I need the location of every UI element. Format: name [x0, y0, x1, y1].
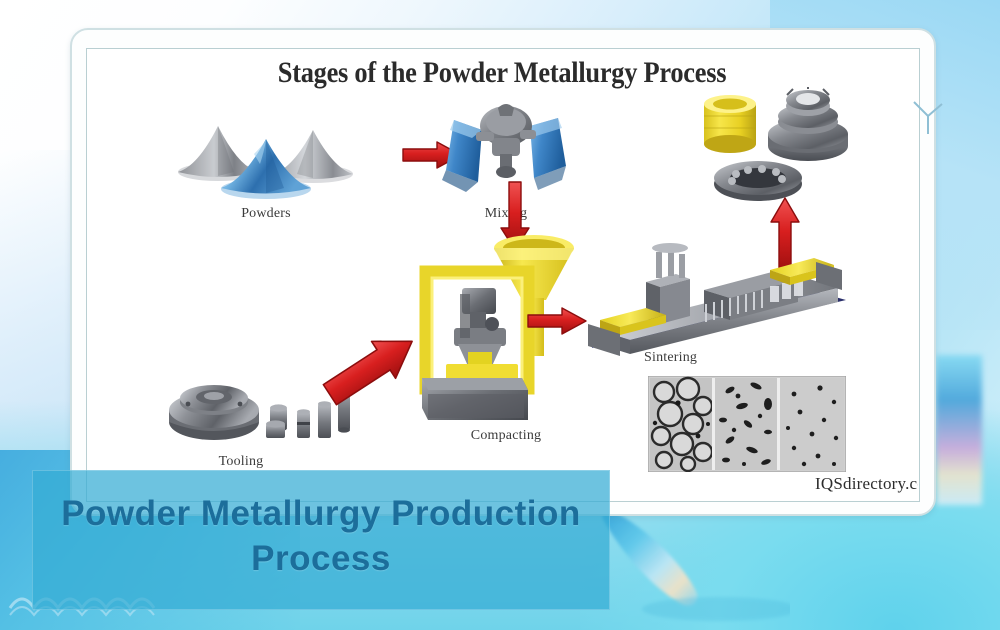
stage-powders[interactable]: Powders	[176, 106, 356, 226]
microstructure-panel-icon	[648, 376, 846, 472]
stage-label-sintering: Sintering	[644, 350, 794, 366]
microstructure-panel[interactable]	[648, 376, 846, 472]
sintering-furnace-icon	[584, 238, 850, 358]
arrow-tooling-to-compacting	[316, 328, 426, 408]
diagram-title: Stages of the Powder Metallurgy Process	[136, 56, 868, 90]
stage-finished-parts[interactable]	[686, 86, 856, 206]
poster-canvas: Stages of the Powder Metallurgy Process	[0, 0, 1000, 630]
stage-compacting[interactable]: Compacting	[406, 228, 606, 448]
finished-parts-icon	[686, 86, 856, 206]
diagram-canvas: Stages of the Powder Metallurgy Process	[86, 48, 918, 500]
stage-label-powders: Powders	[176, 206, 356, 222]
swoosh-decoration	[600, 505, 790, 630]
powder-piles-icon	[176, 106, 356, 201]
watermark-text: IQSdirectory.co	[815, 474, 918, 494]
stage-label-compacting: Compacting	[406, 428, 606, 444]
stage-sintering[interactable]: Sintering	[584, 238, 850, 378]
arrow-compacting-to-sintering	[526, 306, 588, 336]
caption-banner: Powder Metallurgy Production Process	[32, 470, 610, 610]
right-edge-gradient-bar	[936, 355, 982, 505]
stage-label-tooling: Tooling	[166, 454, 316, 470]
caption-title: Powder Metallurgy Production Process	[32, 492, 610, 582]
